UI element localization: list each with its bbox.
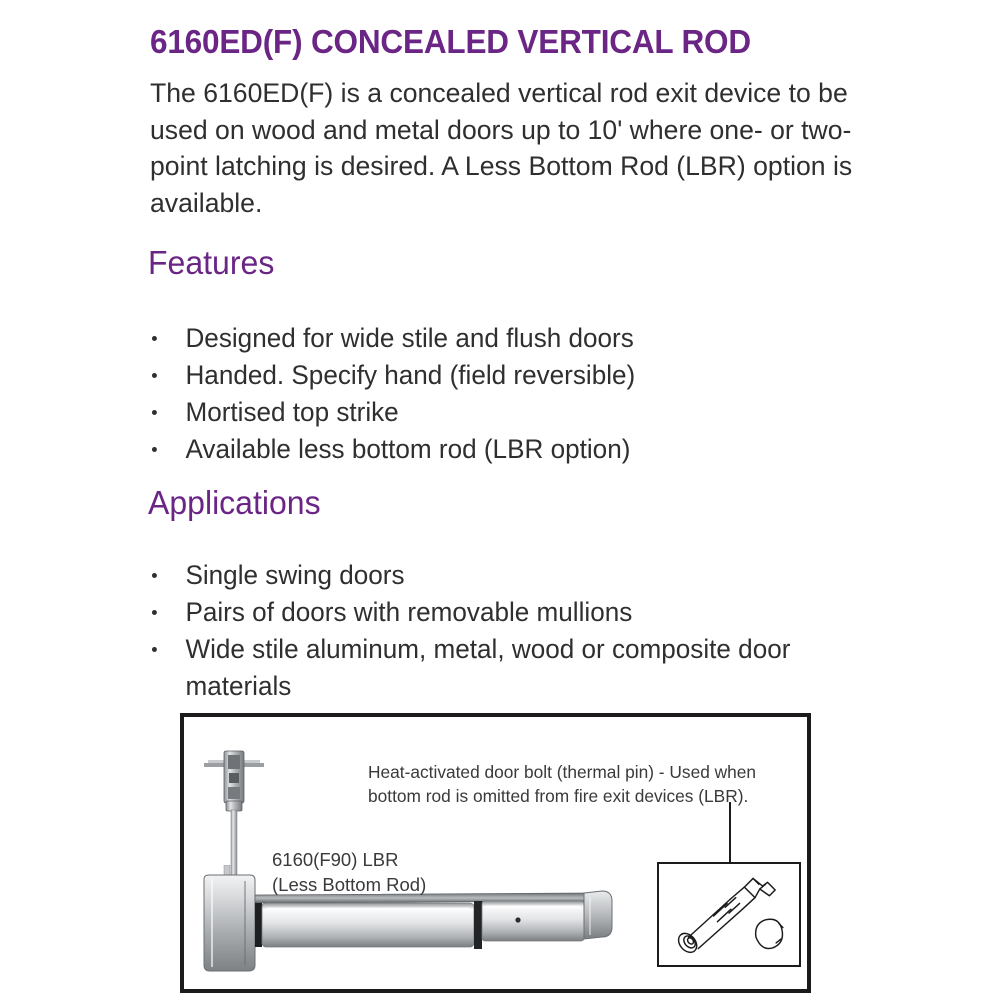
product-diagram-box: Heat-activated door bolt (thermal pin) -…	[180, 713, 811, 993]
list-item-label: Available less bottom rod (LBR option)	[185, 434, 630, 464]
list-item-label: Pairs of doors with removable mullions	[185, 597, 632, 627]
list-item: Designed for wide stile and flush doors	[150, 320, 859, 357]
list-item: Handed. Specify hand (field reversible)	[150, 357, 859, 394]
bullet-dot-icon	[152, 647, 157, 652]
list-item: Available less bottom rod (LBR option)	[150, 431, 859, 468]
list-item: Wide stile aluminum, metal, wood or comp…	[150, 631, 859, 704]
leader-line	[729, 802, 731, 862]
list-item-label: Mortised top strike	[185, 397, 398, 427]
product-diagram-inner: Heat-activated door bolt (thermal pin) -…	[184, 717, 807, 989]
applications-heading: Applications	[148, 483, 321, 523]
heat-activated-door-bolt-icon	[659, 864, 799, 965]
list-item: Pairs of doors with removable mullions	[150, 594, 859, 631]
page-title: 6160ED(F) CONCEALED VERTICAL ROD	[150, 22, 828, 62]
list-item-label: Handed. Specify hand (field reversible)	[185, 360, 635, 390]
bullet-dot-icon	[152, 410, 157, 415]
thermal-pin-inset-box	[657, 862, 801, 967]
applications-list: Single swing doors Pairs of doors with r…	[150, 557, 870, 705]
mortised-top-strike-icon	[198, 747, 270, 882]
thermal-pin-annotation: Heat-activated door bolt (thermal pin) -…	[368, 760, 796, 808]
intro-paragraph: The 6160ED(F) is a concealed vertical ro…	[150, 75, 855, 221]
list-item-label: Designed for wide stile and flush doors	[185, 323, 633, 353]
bullet-dot-icon	[152, 573, 157, 578]
features-heading: Features	[148, 243, 274, 283]
bullet-dot-icon	[152, 447, 157, 452]
bullet-dot-icon	[152, 610, 157, 615]
device-model-label: 6160(F90) LBR (Less Bottom Rod)	[272, 847, 426, 897]
bullet-dot-icon	[152, 373, 157, 378]
bullet-dot-icon	[152, 336, 157, 341]
features-list: Designed for wide stile and flush doors …	[150, 320, 870, 468]
list-item: Single swing doors	[150, 557, 859, 594]
list-item-label: Single swing doors	[185, 560, 404, 590]
list-item-label: Wide stile aluminum, metal, wood or comp…	[185, 634, 790, 701]
list-item: Mortised top strike	[150, 394, 859, 431]
